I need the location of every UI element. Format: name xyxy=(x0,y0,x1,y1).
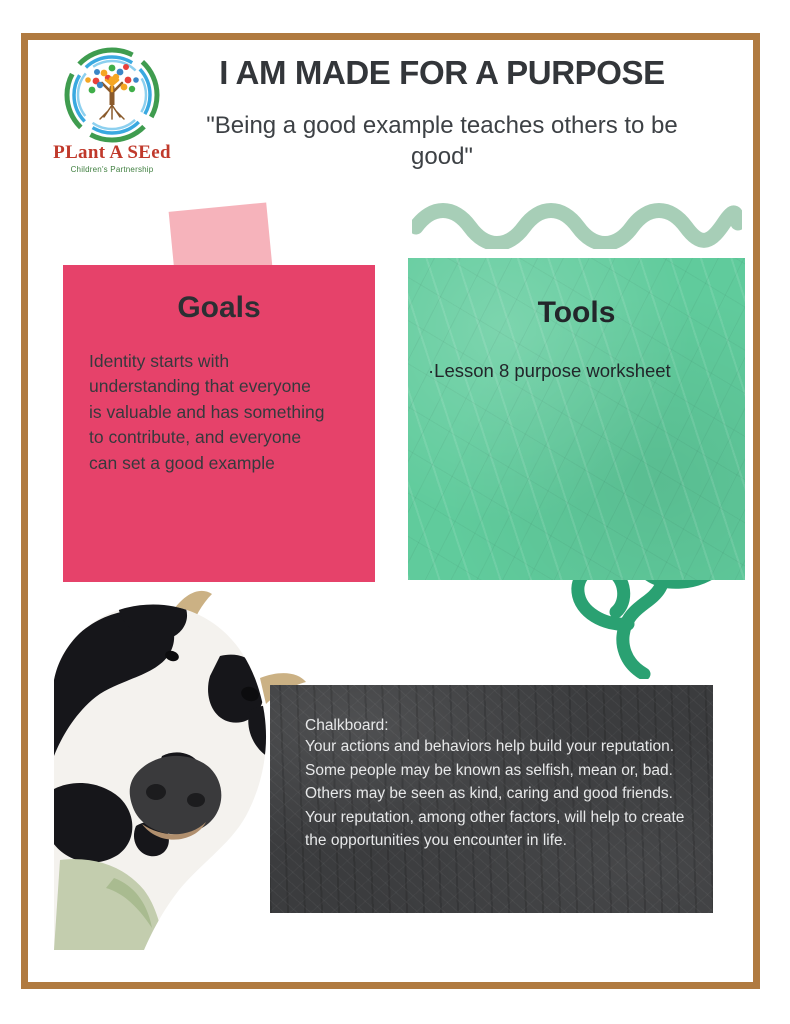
page-subtitle: "Being a good example teaches others to … xyxy=(172,111,712,172)
chalkboard-body: Your actions and behaviors help build yo… xyxy=(305,735,695,853)
goals-card-title: Goals xyxy=(63,291,375,325)
tools-card-title: Tools xyxy=(408,296,745,330)
tools-card: Tools ·Lesson 8 purpose worksheet xyxy=(408,258,745,580)
chalkboard-label: Chalkboard: xyxy=(305,714,389,737)
goals-card-body: Identity starts with understanding that … xyxy=(89,349,327,476)
wavy-line-decoration-icon xyxy=(412,197,742,249)
logo: PLant A SEed Children's Partnership xyxy=(52,47,172,175)
page-title: I AM MADE FOR A PURPOSE xyxy=(172,55,712,92)
logo-tagline: Children's Partnership xyxy=(52,165,172,174)
tools-card-body: ·Lesson 8 purpose worksheet xyxy=(428,358,678,384)
goals-card: Goals Identity starts with understanding… xyxy=(63,265,375,582)
chalkboard-panel: Chalkboard: Your actions and behaviors h… xyxy=(270,685,713,913)
poster-page: PLant A SEed Children's Partnership I AM… xyxy=(0,0,790,1024)
logo-name: PLant A SEed xyxy=(52,143,172,162)
tree-in-circle-logo-icon xyxy=(64,47,160,143)
